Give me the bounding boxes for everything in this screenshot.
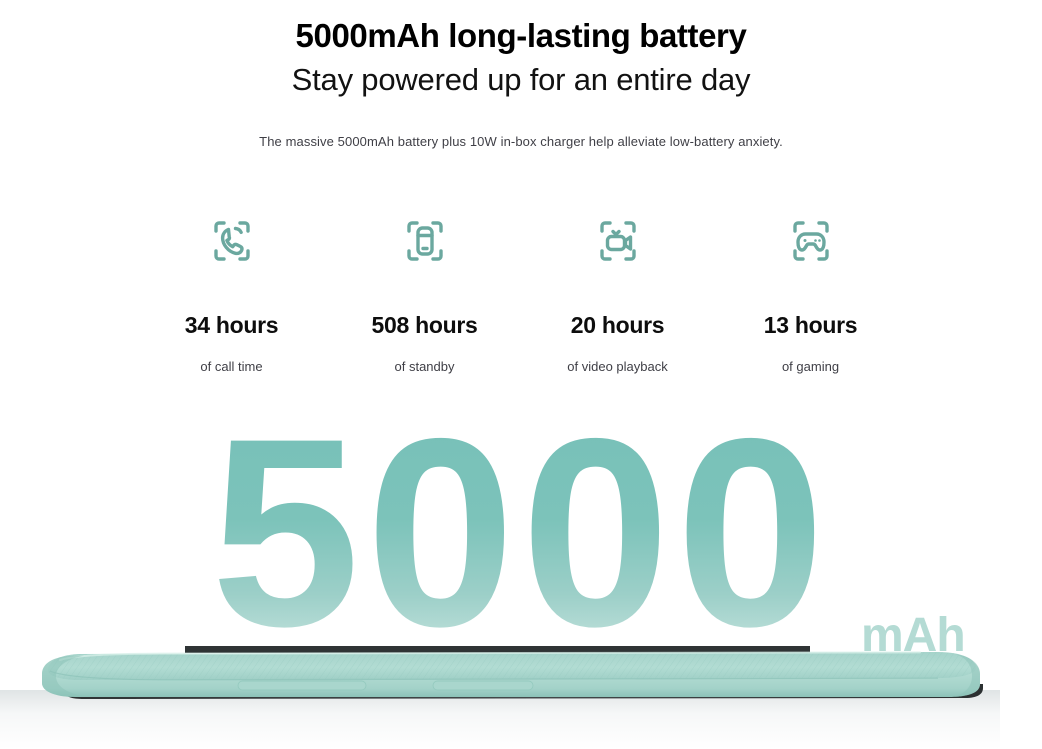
battery-feature-page: 5000mAh long-lasting battery Stay powere…	[0, 0, 1042, 749]
stat-value: 20 hours	[521, 312, 714, 339]
page-title: 5000mAh long-lasting battery	[0, 16, 1042, 56]
stat-item-video-playback: 20 hours of video playback	[521, 208, 714, 374]
hero-capacity-number: 5000	[211, 402, 831, 662]
stat-label: of call time	[135, 359, 328, 374]
stat-label: of video playback	[521, 359, 714, 374]
phone-standby-icon	[328, 208, 521, 274]
page-subtitle: Stay powered up for an entire day	[0, 60, 1042, 100]
product-phone-image	[0, 640, 985, 700]
stat-label: of gaming	[714, 359, 907, 374]
stat-item-gaming: 13 hours of gaming	[714, 208, 907, 374]
page-header: 5000mAh long-lasting battery Stay powere…	[0, 16, 1042, 101]
gamepad-icon	[714, 208, 907, 274]
stat-value: 34 hours	[135, 312, 328, 339]
stat-label: of standby	[328, 359, 521, 374]
battery-stats-row: 34 hours of call time 508 hours of stand…	[135, 208, 907, 374]
stat-value: 13 hours	[714, 312, 907, 339]
video-camera-icon	[521, 208, 714, 274]
stat-item-standby: 508 hours of standby	[328, 208, 521, 374]
phone-call-icon	[135, 208, 328, 274]
intro-paragraph: The massive 5000mAh battery plus 10W in-…	[0, 134, 1042, 149]
stat-item-call-time: 34 hours of call time	[135, 208, 328, 374]
stat-value: 508 hours	[328, 312, 521, 339]
